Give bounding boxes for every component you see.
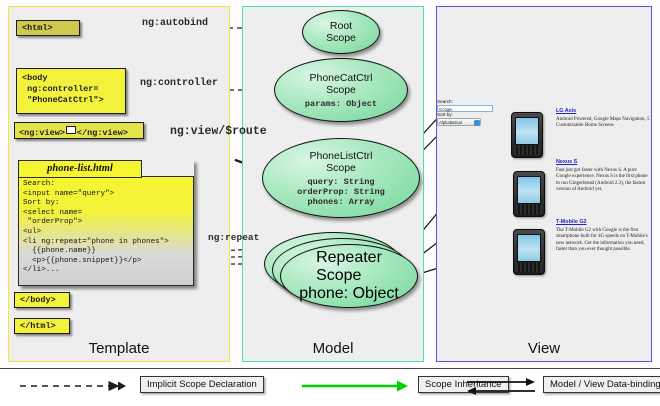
phone-thumbnail[interactable] <box>511 112 543 158</box>
scope-root-title: Root Scope <box>326 20 356 44</box>
scope-repeater-title: Repeater Scope <box>316 249 382 285</box>
phone-thumbnail[interactable] <box>513 229 545 275</box>
legend-dashed-arrow-icon <box>18 377 136 395</box>
tag-html-close: </html> <box>14 318 70 334</box>
phone-snippet: Android Powered, Google Maps Navigation,… <box>556 117 650 130</box>
scope-phonecatctrl-props: params: Object <box>305 99 377 109</box>
legend: Implicit Scope Declaration Scope Inherit… <box>0 368 660 406</box>
phone-name-link[interactable]: Nexus S <box>556 159 650 166</box>
legend-double-arrow-icon <box>465 377 541 397</box>
label-ng-controller: ng:controller <box>140 78 218 89</box>
sort-select-value: Alphabetical <box>439 120 462 125</box>
legend-label-data-binding: Model / View Data-binding <box>543 376 660 393</box>
search-input[interactable]: Google <box>437 105 493 112</box>
chevron-down-icon <box>474 120 480 126</box>
column-label-view: View <box>437 340 651 357</box>
tag-html-open: <html> <box>16 20 80 36</box>
phone-list-item: Nexus S Fast just got faster with Nexus … <box>556 159 650 194</box>
phone-keyboard-icon <box>516 262 542 272</box>
tag-ngview: <ng:view></ng:view> <box>14 122 144 139</box>
label-ng-view-route: ng:view/$route <box>170 125 267 138</box>
label-ng-repeat: ng:repeat <box>208 232 259 243</box>
ngview-open-text: <ng:view> <box>19 128 65 138</box>
scope-root: Root Scope <box>302 10 380 54</box>
phone-name-link[interactable]: T-Mobile G2 <box>556 219 650 226</box>
tag-body-close: </body> <box>14 292 70 308</box>
legend-item-implicit-scope: Implicit Scope Declaration <box>18 377 136 395</box>
view-search-form: Search: Google Sort by: Alphabetical <box>437 99 499 126</box>
legend-green-arrow-icon <box>300 377 414 395</box>
phone-keyboard-icon <box>516 204 542 214</box>
phone-list-item: LG Axis Android Powered, Google Maps Nav… <box>556 108 650 130</box>
phone-name-link[interactable]: LG Axis <box>556 108 650 115</box>
scope-repeater: Repeater Scope phone: Object <box>280 244 418 308</box>
tag-body-open: <body ng:controller= "PhoneCatCtrl"> <box>16 68 126 114</box>
phone-screen-icon <box>515 117 539 145</box>
ngview-placeholder-icon <box>66 126 76 134</box>
scope-repeater-props: phone: Object <box>299 285 399 303</box>
diagram-canvas: Template Model View <html> <body ng:cont… <box>0 0 660 405</box>
label-ng-autobind: ng:autobind <box>142 18 208 29</box>
scope-phonelistctrl-title: PhoneListCtrl Scope <box>309 150 372 174</box>
phone-screen-icon <box>517 176 541 204</box>
phone-snippet: Fast just got faster with Nexus S. A pur… <box>556 168 650 194</box>
scope-phonecatctrl-title: PhoneCatCtrl Scope <box>309 72 372 96</box>
legend-label-implicit-scope: Implicit Scope Declaration <box>140 376 264 393</box>
column-label-model: Model <box>243 340 423 357</box>
sort-select[interactable]: Alphabetical <box>437 118 481 126</box>
phone-list-note-code: Search: <input name="query"> Sort by: <s… <box>18 176 194 286</box>
scope-phonelistctrl-props: query: String orderProp: String phones: … <box>297 177 385 207</box>
phone-keyboard-icon <box>514 145 540 155</box>
legend-item-data-binding: Model / View Data-binding <box>465 377 541 395</box>
phone-screen-icon <box>517 234 541 262</box>
phone-thumbnail[interactable] <box>513 171 545 217</box>
scope-phonelistctrl: PhoneListCtrl Scope query: String orderP… <box>262 138 420 218</box>
phone-list-note-title: phone-list.html <box>18 160 142 178</box>
phone-list-note: Search: <input name="query"> Sort by: <s… <box>18 160 194 286</box>
phone-list-item: T-Mobile G2 The T-Mobile G2 with Google … <box>556 219 650 254</box>
scope-phonecatctrl: PhoneCatCtrl Scope params: Object <box>274 58 408 122</box>
column-label-template: Template <box>9 340 229 357</box>
ngview-close-text: </ng:view> <box>77 128 128 138</box>
phone-snippet: The T-Mobile G2 with Google is the first… <box>556 228 650 254</box>
legend-item-scope-inheritance: Scope Inheritance <box>300 377 414 395</box>
